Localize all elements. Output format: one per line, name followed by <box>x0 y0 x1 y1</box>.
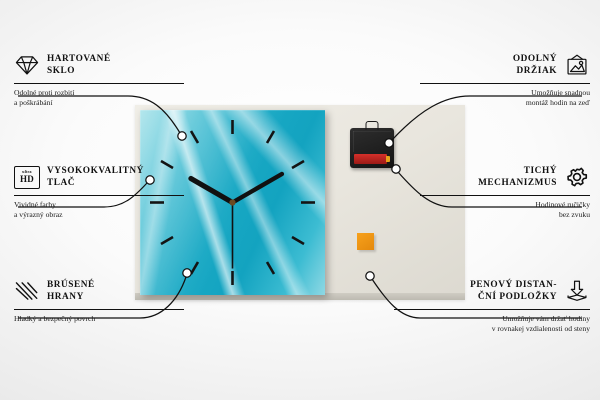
down-arrow-stack-icon <box>564 279 590 303</box>
feature-divider <box>394 309 590 310</box>
feature-title: HARTOVANÉSKLO <box>47 53 111 78</box>
mechanism-hanger-hook <box>366 121 379 130</box>
feature-description: Hladký a bezpečný povrch <box>14 314 184 325</box>
feature-title: VYSOKOKVALITNÝTLAČ <box>47 165 144 190</box>
feature-durable-hanger: ODOLNÝDRŽIAK Umožňuje snadnoumontáž hodi… <box>420 50 590 109</box>
feature-tempered-glass: HARTOVANÉSKLO Odolné proti rozbitía pošk… <box>14 50 184 109</box>
clock-hands <box>191 174 282 269</box>
feature-description: Vividné farbya výrazný obraz <box>14 200 184 221</box>
feature-description: Umožňuje snadnoumontáž hodin na zeď <box>420 88 590 109</box>
feature-high-quality-print: ultra HD VYSOKOKVALITNÝTLAČ Vividné farb… <box>14 162 184 221</box>
infographic-stage: HARTOVANÉSKLO Odolné proti rozbitía pošk… <box>0 0 600 400</box>
feature-description: Odolné proti rozbitía poškrábání <box>14 88 184 109</box>
ultra-hd-icon: ultra HD <box>14 166 40 189</box>
feature-divider <box>14 83 184 84</box>
feature-description: Hodinové ručičkybez zvuku <box>420 200 590 221</box>
feature-divider <box>14 195 184 196</box>
ultra-hd-icon-main: HD <box>20 175 34 184</box>
feature-divider <box>420 195 590 196</box>
feature-divider <box>14 309 184 310</box>
diamond-icon <box>14 53 40 77</box>
gear-icon <box>564 165 590 189</box>
mechanism-body-detail <box>353 131 391 152</box>
foam-spacer-pad <box>357 233 374 250</box>
product-photo <box>135 105 465 300</box>
feature-title: PENOVÝ DISTAN-ČNÍ PODLOŽKY <box>470 279 557 304</box>
battery-terminal <box>386 156 390 162</box>
clock-mechanism <box>350 128 394 168</box>
picture-frame-icon <box>564 53 590 77</box>
feature-description: Umožňuje vám držať hodinyv rovnakej vzdi… <box>394 314 590 335</box>
feature-ground-edges: BRÚSENÉHRANY Hladký a bezpečný povrch <box>14 276 184 324</box>
feature-foam-spacers: PENOVÝ DISTAN-ČNÍ PODLOŽKY Umožňuje vám … <box>394 276 590 335</box>
feature-divider <box>420 83 590 84</box>
mechanism-battery <box>354 154 387 164</box>
feature-title: BRÚSENÉHRANY <box>47 279 95 304</box>
feature-silent-mechanism: TICHÝMECHANIZMUS Hodinové ručičkybez zvu… <box>420 162 590 221</box>
diagonal-lines-icon <box>14 279 40 303</box>
feature-title: TICHÝMECHANIZMUS <box>478 165 557 190</box>
feature-title: ODOLNÝDRŽIAK <box>513 53 557 78</box>
